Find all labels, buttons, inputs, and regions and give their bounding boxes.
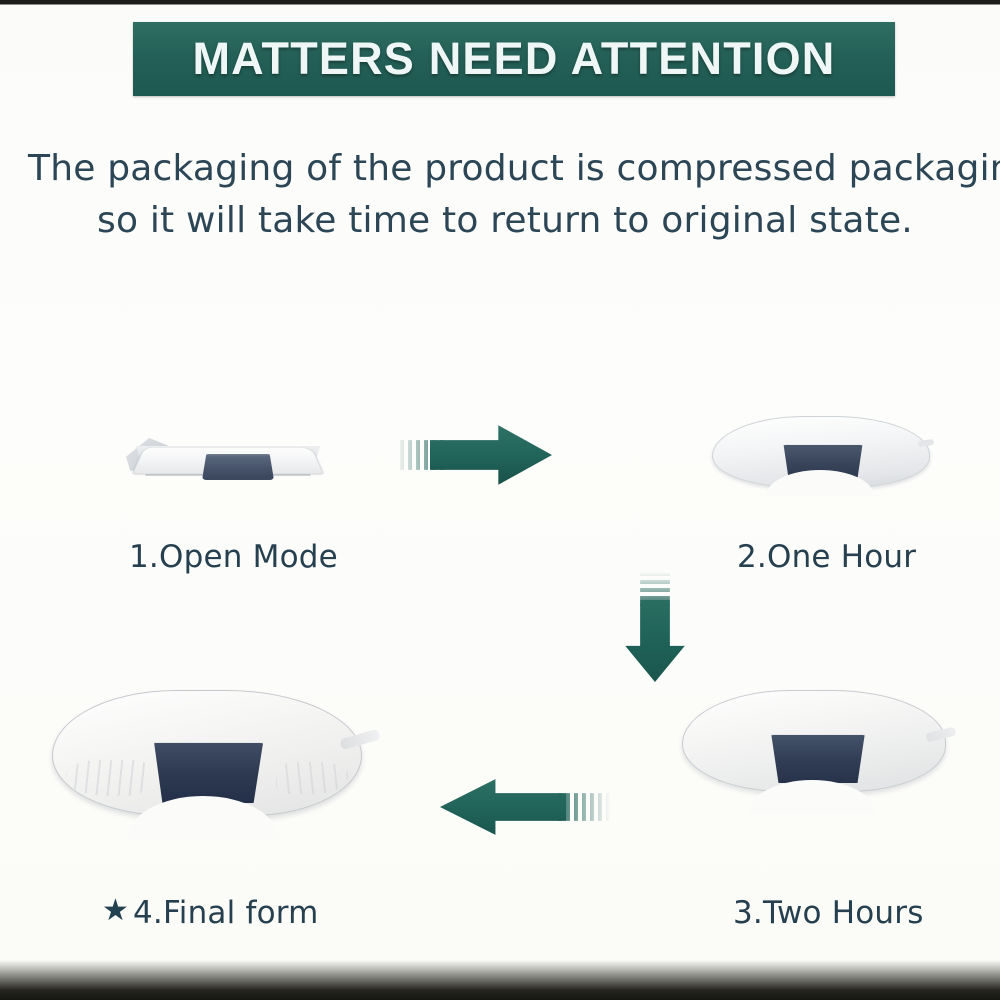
star-icon: ★ bbox=[102, 896, 129, 926]
pillow-4-center-panel bbox=[148, 742, 268, 803]
pillow-step-3-two-hours bbox=[682, 690, 952, 808]
caption-step-3: 3.Two Hours bbox=[733, 895, 924, 931]
intro-paragraph: The packaging of the product is compress… bbox=[0, 143, 1000, 247]
arrow-right-icon bbox=[430, 424, 552, 486]
pillow-step-4-final-form bbox=[52, 690, 370, 830]
caption-step-1: 1.Open Mode bbox=[129, 539, 338, 575]
intro-line-1: The packaging of the product is compress… bbox=[28, 143, 1000, 195]
arrow-left-icon bbox=[440, 778, 566, 836]
poster-background: MATTERS NEED ATTENTION The packaging of … bbox=[0, 0, 1000, 1000]
pillow-step-1-flat bbox=[124, 416, 329, 488]
arrow-left-body bbox=[440, 778, 566, 836]
pillow-step-2-one-hour bbox=[712, 408, 928, 492]
poster-canvas: MATTERS NEED ATTENTION The packaging of … bbox=[0, 0, 1000, 1000]
pillow-1-center-panel bbox=[202, 454, 274, 480]
arrow-down-icon bbox=[624, 572, 686, 682]
header-banner: MATTERS NEED ATTENTION bbox=[133, 22, 895, 96]
caption-step-4: 4.Final form bbox=[133, 895, 319, 931]
pillow-4-quilt-texture-right bbox=[276, 762, 348, 794]
arrow-right-body bbox=[430, 424, 552, 486]
arrow-down-body bbox=[624, 600, 686, 682]
intro-line-2: so it will take time to return to origin… bbox=[0, 195, 1000, 247]
pillow-2-tag bbox=[918, 439, 935, 447]
page-title: MATTERS NEED ATTENTION bbox=[133, 33, 895, 85]
pillow-3-center-panel bbox=[766, 734, 870, 783]
pillow-4-quilt-texture-left bbox=[66, 760, 148, 796]
caption-step-2: 2.One Hour bbox=[737, 539, 916, 575]
